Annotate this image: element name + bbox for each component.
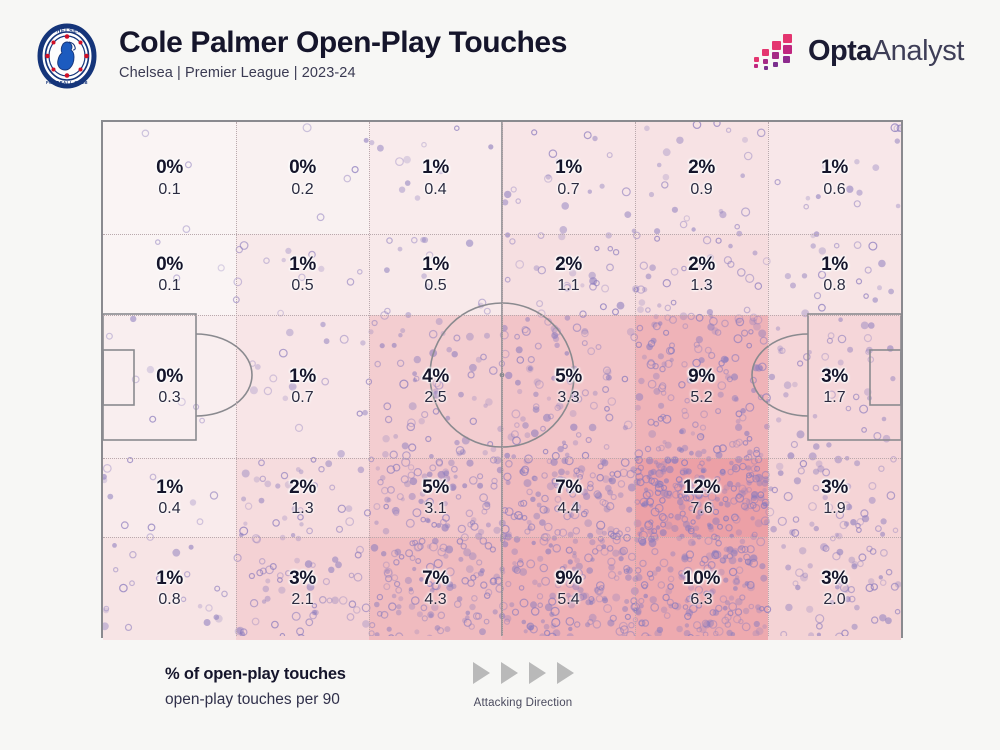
cell-percentage: 2% <box>688 255 715 275</box>
heatmap-cell: 0%0.3 <box>103 315 236 458</box>
grid-row-divider <box>103 315 901 316</box>
heatmap-cell: 3%1.9 <box>768 458 901 537</box>
grid-column-divider <box>369 122 370 636</box>
cell-per90: 1.3 <box>690 278 712 294</box>
legend-secondary-label: open-play touches per 90 <box>165 691 346 709</box>
cell-percentage: 3% <box>289 569 316 589</box>
heatmap-cell: 9%5.4 <box>502 537 635 640</box>
cell-percentage: 3% <box>821 569 848 589</box>
grid-column-divider <box>502 122 503 636</box>
cell-per90: 0.8 <box>158 592 180 608</box>
cell-percentage: 2% <box>289 478 316 498</box>
cell-percentage: 2% <box>688 158 715 178</box>
heatmap-cell: 5%3.1 <box>369 458 502 537</box>
heatmap-cell: 1%0.7 <box>236 315 369 458</box>
cell-percentage: 3% <box>821 367 848 387</box>
cell-per90: 1.9 <box>823 501 845 517</box>
attacking-direction-label: Attacking Direction <box>448 697 598 709</box>
cell-per90: 0.5 <box>291 278 313 294</box>
cell-per90: 0.4 <box>424 182 446 198</box>
heatmap-cell: 1%0.4 <box>369 122 502 234</box>
heatmap-cell: 2%1.1 <box>502 234 635 315</box>
cell-per90: 3.1 <box>424 501 446 517</box>
title-block: Cole Palmer Open-Play Touches Chelsea | … <box>119 26 567 81</box>
cell-percentage: 0% <box>156 158 183 178</box>
cell-percentage: 1% <box>289 255 316 275</box>
cell-percentage: 1% <box>156 569 183 589</box>
cell-percentage: 9% <box>555 569 582 589</box>
touch-heatmap-pitch: 0%0.10%0.21%0.41%0.72%0.91%0.60%0.11%0.5… <box>101 120 903 638</box>
cell-percentage: 1% <box>555 158 582 178</box>
direction-arrow-icon <box>501 662 518 684</box>
direction-arrow-icon <box>529 662 546 684</box>
cell-per90: 1.7 <box>823 390 845 406</box>
cell-percentage: 5% <box>422 478 449 498</box>
heatmap-cell: 3%2.0 <box>768 537 901 640</box>
cell-percentage: 9% <box>688 367 715 387</box>
heatmap-cell: 0%0.1 <box>103 122 236 234</box>
opta-brand-bold: Opta <box>808 35 872 67</box>
cell-per90: 4.3 <box>424 592 446 608</box>
cell-percentage: 0% <box>156 367 183 387</box>
cell-per90: 0.7 <box>291 390 313 406</box>
page-header: CHELSEA FOOTBALL CLUB Cole Palmer Open-P… <box>0 0 1000 110</box>
cell-per90: 2.5 <box>424 390 446 406</box>
opta-analyst-logo: OptaAnalyst <box>753 32 964 70</box>
cell-per90: 0.5 <box>424 278 446 294</box>
heatmap-cell: 10%6.3 <box>635 537 768 640</box>
cell-per90: 3.3 <box>557 390 579 406</box>
heatmap-cell: 2%1.3 <box>635 234 768 315</box>
heatmap-cell: 1%0.5 <box>236 234 369 315</box>
cell-percentage: 7% <box>422 569 449 589</box>
cell-percentage: 10% <box>683 569 720 589</box>
grid-row-divider <box>103 234 901 235</box>
cell-percentage: 0% <box>156 255 183 275</box>
cell-per90: 1.3 <box>291 501 313 517</box>
cell-percentage: 1% <box>289 367 316 387</box>
cell-percentage: 1% <box>422 255 449 275</box>
cell-percentage: 1% <box>821 158 848 178</box>
cell-per90: 2.1 <box>291 592 313 608</box>
cell-percentage: 3% <box>821 478 848 498</box>
legend: % of open-play touches open-play touches… <box>165 665 346 709</box>
grid-column-divider <box>768 122 769 636</box>
heatmap-cell: 4%2.5 <box>369 315 502 458</box>
heatmap-cell: 2%1.3 <box>236 458 369 537</box>
cell-per90: 0.4 <box>158 501 180 517</box>
cell-per90: 7.6 <box>690 501 712 517</box>
cell-per90: 0.1 <box>158 278 180 294</box>
chelsea-crest: CHELSEA FOOTBALL CLUB <box>36 22 98 90</box>
grid-column-divider <box>236 122 237 636</box>
grid-column-divider <box>635 122 636 636</box>
heatmap-cell: 12%7.6 <box>635 458 768 537</box>
cell-percentage: 7% <box>555 478 582 498</box>
heatmap-cell: 1%0.8 <box>768 234 901 315</box>
opta-wordmark: OptaAnalyst <box>808 37 964 66</box>
svg-text:FOOTBALL CLUB: FOOTBALL CLUB <box>46 80 88 85</box>
attacking-direction-block: Attacking Direction <box>448 662 598 709</box>
cell-percentage: 1% <box>422 158 449 178</box>
heatmap-cell: 2%0.9 <box>635 122 768 234</box>
attacking-direction-arrows <box>448 662 598 684</box>
cell-per90: 0.6 <box>823 182 845 198</box>
cell-per90: 4.4 <box>557 501 579 517</box>
cell-per90: 0.8 <box>823 278 845 294</box>
grid-row-divider <box>103 458 901 459</box>
page-title: Cole Palmer Open-Play Touches <box>119 26 567 60</box>
cell-percentage: 12% <box>683 478 720 498</box>
grid-row-divider <box>103 537 901 538</box>
opta-brand-light: Analyst <box>872 35 964 67</box>
cell-percentage: 5% <box>555 367 582 387</box>
heatmap-cell: 1%0.4 <box>103 458 236 537</box>
heatmap-cell: 5%3.3 <box>502 315 635 458</box>
cell-per90: 0.9 <box>690 182 712 198</box>
heatmap-cell: 1%0.6 <box>768 122 901 234</box>
cell-percentage: 4% <box>422 367 449 387</box>
cell-per90: 5.2 <box>690 390 712 406</box>
heatmap-cell: 7%4.4 <box>502 458 635 537</box>
cell-per90: 6.3 <box>690 592 712 608</box>
heatmap-cell: 1%0.8 <box>103 537 236 640</box>
heatmap-cell: 0%0.2 <box>236 122 369 234</box>
cell-percentage: 2% <box>555 255 582 275</box>
heatmap-cell: 7%4.3 <box>369 537 502 640</box>
cell-per90: 0.3 <box>158 390 180 406</box>
cell-per90: 0.7 <box>557 182 579 198</box>
cell-per90: 0.1 <box>158 182 180 198</box>
svg-text:CHELSEA: CHELSEA <box>52 29 82 35</box>
cell-percentage: 1% <box>821 255 848 275</box>
heatmap-cell: 0%0.1 <box>103 234 236 315</box>
direction-arrow-icon <box>557 662 574 684</box>
legend-primary-label: % of open-play touches <box>165 665 346 684</box>
heatmap-cell: 1%0.5 <box>369 234 502 315</box>
heatmap-cell: 3%1.7 <box>768 315 901 458</box>
heatmap-cell: 1%0.7 <box>502 122 635 234</box>
page-subtitle: Chelsea | Premier League | 2023-24 <box>119 65 567 81</box>
cell-per90: 1.1 <box>557 278 579 294</box>
heatmap-cell: 9%5.2 <box>635 315 768 458</box>
cell-per90: 5.4 <box>557 592 579 608</box>
cell-per90: 2.0 <box>823 592 845 608</box>
direction-arrow-icon <box>473 662 490 684</box>
cell-percentage: 0% <box>289 158 316 178</box>
opta-mosaic-icon <box>753 32 799 70</box>
cell-percentage: 1% <box>156 478 183 498</box>
heatmap-cell: 3%2.1 <box>236 537 369 640</box>
cell-per90: 0.2 <box>291 182 313 198</box>
pitch-surface: 0%0.10%0.21%0.41%0.72%0.91%0.60%0.11%0.5… <box>101 120 903 638</box>
